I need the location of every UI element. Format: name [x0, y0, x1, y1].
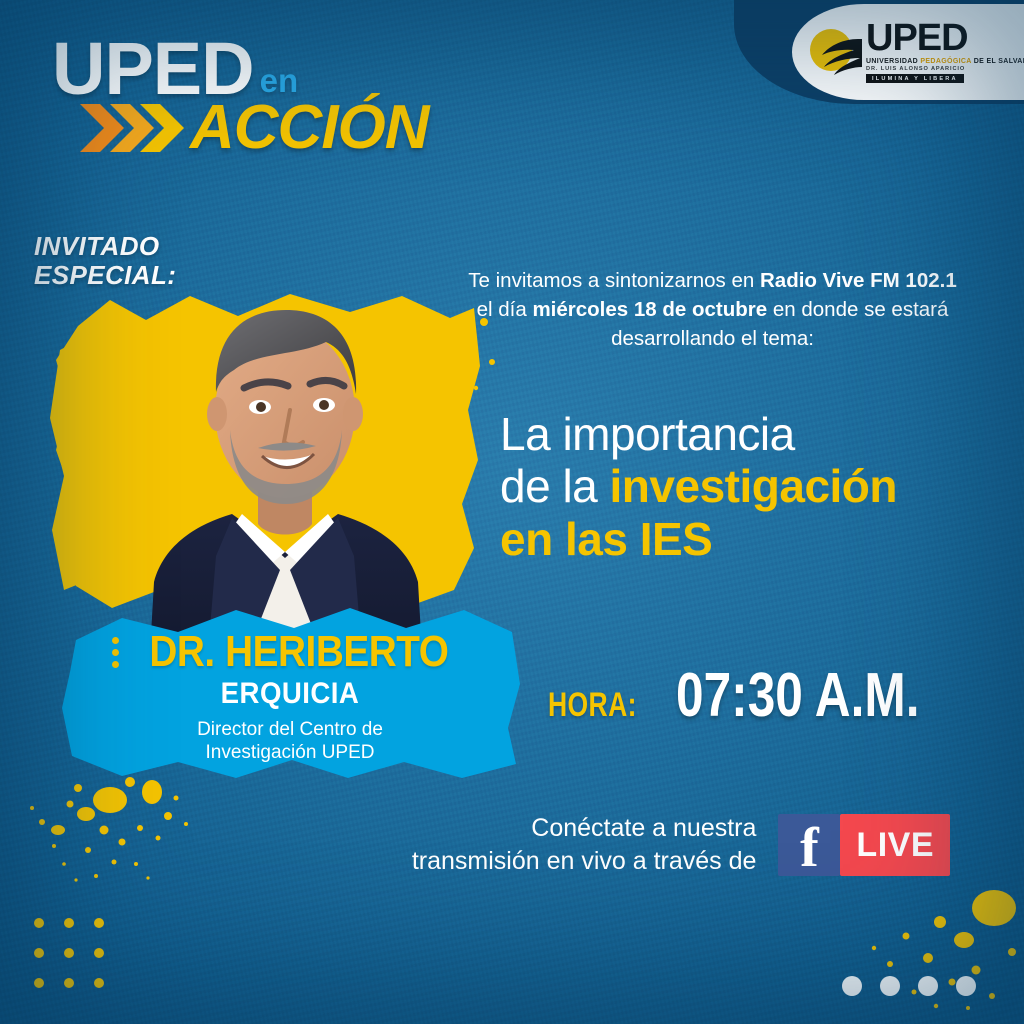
dot-grid-decoration	[34, 918, 104, 988]
topic-line-3: en las IES	[500, 513, 990, 565]
uped-wordmark: UPED	[866, 21, 968, 56]
promo-poster: UPED UNIVERSIDAD PEDAGÓGICA DE EL SALVAD…	[0, 0, 1024, 1024]
tagline-pedagogica: PEDAGÓGICA	[920, 58, 971, 65]
uped-logo: UPED UNIVERSIDAD PEDAGÓGICA DE EL SALVAD…	[792, 4, 1024, 100]
paint-splatter-right	[844, 874, 1024, 1024]
speaker-role-line2: Investigación UPED	[70, 741, 510, 764]
topic-line-2-accent: investigación	[610, 460, 897, 512]
speaker-name-first-row: DR. HERIBERTO	[70, 630, 510, 674]
facebook-icon[interactable]: f	[778, 814, 840, 876]
uped-founder: DR. LUIS ALONSO APARICIO	[866, 66, 965, 72]
speaker-name-last: ERQUICIA	[88, 677, 493, 712]
stream-text: Conéctate a nuestra transmisión en vivo …	[330, 812, 756, 878]
swoosh-icon	[808, 25, 862, 79]
program-title-accion: ACCIÓN	[190, 97, 429, 159]
topic-line-2: de la investigación	[500, 460, 990, 512]
invite-date: miércoles 18 de octubre	[532, 298, 767, 321]
uped-logo-mark-icon	[808, 25, 862, 79]
dot-colon-icon	[112, 637, 119, 668]
invite-part-2: el día	[477, 298, 533, 321]
uped-logo-text: UPED UNIVERSIDAD PEDAGÓGICA DE EL SALVAD…	[866, 21, 1024, 83]
facebook-glyph: f	[800, 821, 819, 876]
dot-row-decoration	[842, 976, 976, 996]
topic-line-2-plain: de la	[500, 460, 610, 512]
program-title-row-2: ACCIÓN	[78, 97, 429, 159]
tagline-universidad: UNIVERSIDAD	[866, 58, 918, 65]
event-time-value: 07:30 A.M.	[676, 660, 920, 731]
invite-part-1: Te invitamos a sintonizarnos en	[468, 269, 760, 292]
topic-line-1: La importancia	[500, 408, 990, 460]
stream-text-line2: transmisión en vivo a través de	[330, 845, 756, 878]
tagline-rest: DE EL SALVADOR	[974, 58, 1024, 65]
speaker-role-line1: Director del Centro de	[70, 718, 510, 741]
speaker-name-block: DR. HERIBERTO ERQUICIA Director del Cent…	[70, 630, 510, 764]
facebook-live-badge[interactable]: f LIVE	[778, 814, 950, 876]
uped-motto: ILUMINA Y LIBERA	[866, 74, 964, 83]
invitation-paragraph: Te invitamos a sintonizarnos en Radio Vi…	[460, 266, 965, 353]
program-title: UPED en ACCIÓN	[52, 36, 429, 159]
chevrons-icon	[78, 100, 188, 156]
invite-station: Radio Vive FM 102.1	[760, 269, 957, 292]
uped-tagline: UNIVERSIDAD PEDAGÓGICA DE EL SALVADOR	[866, 58, 1024, 65]
live-badge: LIVE	[840, 814, 950, 876]
topic-headline: La importancia de la investigación en la…	[500, 408, 990, 565]
event-time: HORA: 07:30 A.M.	[548, 660, 980, 731]
stream-text-line1: Conéctate a nuestra	[330, 812, 756, 845]
speaker-name-first: DR. HERIBERTO	[149, 630, 448, 674]
event-time-label: HORA:	[548, 686, 637, 725]
stream-row: Conéctate a nuestra transmisión en vivo …	[330, 812, 950, 878]
